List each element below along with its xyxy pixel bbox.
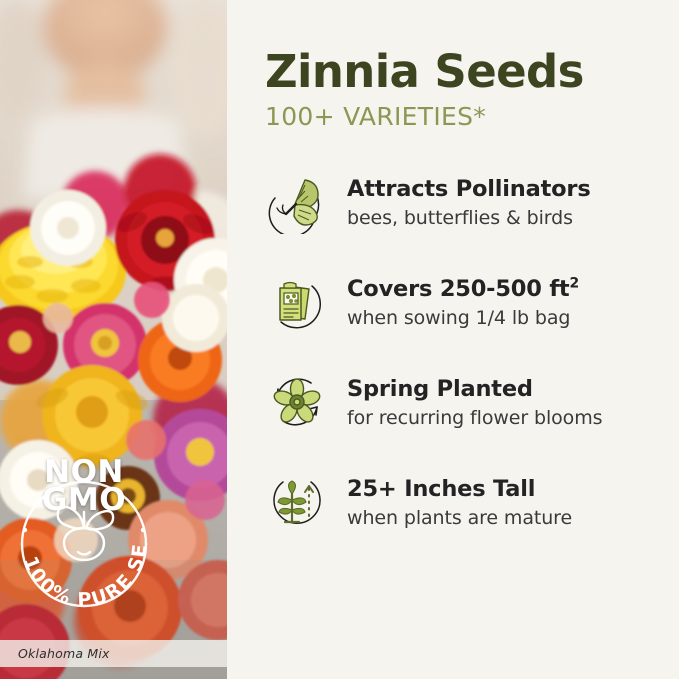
zinnia-bouquet-photo: NON GMO [0,0,227,679]
seed-packets-icon [265,270,329,334]
photo-caption-text: Oklahoma Mix [18,646,110,661]
feature-spring-planted: Spring Planted for recurring flower bloo… [265,366,645,438]
feature-text: Spring Planted for recurring flower bloo… [347,374,645,430]
feature-subtitle: for recurring flower blooms [347,406,645,430]
feature-list: Attracts Pollinators bees, butterflies &… [265,166,645,538]
feature-text: 25+ Inches Tall when plants are mature [347,474,645,530]
bouquet-illustration [0,0,227,679]
feature-title: Attracts Pollinators [347,176,645,203]
feature-title-superscript: 2 [569,276,579,292]
feature-title: Covers 250-500 ft2 [347,276,645,303]
feature-title: Spring Planted [347,376,645,403]
feature-subtitle: when plants are mature [347,506,645,530]
page-title: Zinnia Seeds [265,46,645,98]
feature-subtitle: when sowing 1/4 lb bag [347,306,645,330]
feature-title-main: Covers 250-500 ft [347,276,569,302]
feature-title: 25+ Inches Tall [347,476,645,503]
feature-text: Attracts Pollinators bees, butterflies &… [347,174,645,230]
feature-coverage-area: Covers 250-500 ft2 when sowing 1/4 lb ba… [265,266,645,338]
flower-cycle-icon [265,370,329,434]
feature-subtitle: bees, butterflies & birds [347,206,645,230]
content-panel: Zinnia Seeds 100+ VARIETIES* [227,0,679,679]
product-feature-card: NON GMO [0,0,679,679]
plant-height-icon [265,470,329,534]
page-subtitle: 100+ VARIETIES* [265,102,645,132]
feature-text: Covers 250-500 ft2 when sowing 1/4 lb ba… [347,274,645,330]
butterfly-icon [265,170,329,234]
feature-attracts-pollinators: Attracts Pollinators bees, butterflies &… [265,166,645,238]
photo-caption: Oklahoma Mix [0,640,227,667]
feature-plant-height: 25+ Inches Tall when plants are mature [265,466,645,538]
